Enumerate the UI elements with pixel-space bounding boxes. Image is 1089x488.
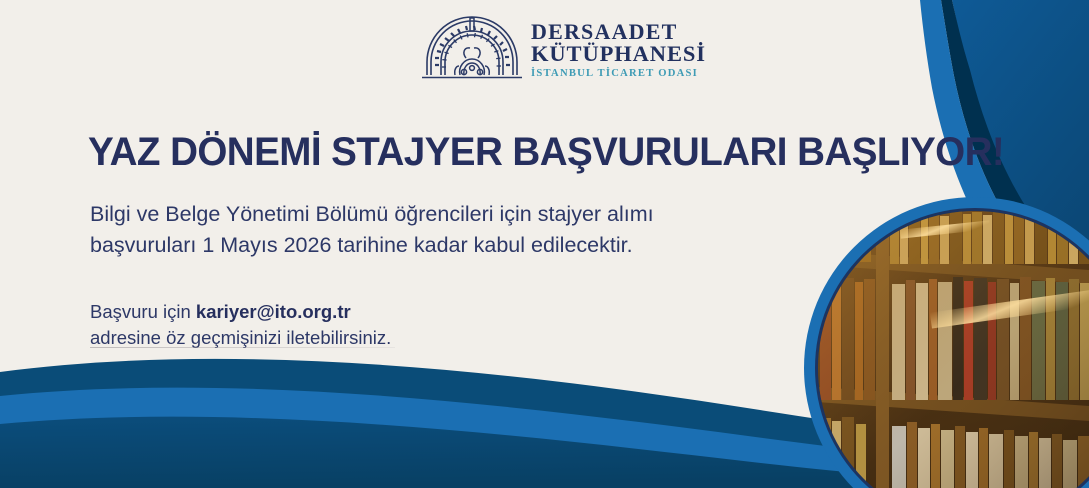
body-line-2: başvuruları 1 Mayıs 2026 tarihine kadar … — [90, 230, 730, 261]
contact-block: Başvuru için kariyer@ito.org.tr adresine… — [90, 299, 510, 352]
contact-prefix: Başvuru için — [90, 301, 196, 322]
body-line-1: Bilgi ve Belge Yönetimi Bölümü öğrencile… — [90, 199, 730, 230]
brand-logo: DERSAADET KÜTÜPHANESİ İSTANBUL TİCARET O… — [422, 12, 682, 84]
body-paragraph: Bilgi ve Belge Yönetimi Bölümü öğrencile… — [90, 199, 730, 260]
dersaadet-library-arch-emblem — [422, 15, 522, 81]
contact-email[interactable]: kariyer@ito.org.tr — [196, 301, 351, 322]
divider — [90, 347, 395, 348]
contact-line-1: Başvuru için kariyer@ito.org.tr — [90, 299, 510, 325]
logo-subtitle: İSTANBUL TİCARET ODASI — [531, 68, 706, 79]
logo-line-1: DERSAADET — [531, 21, 706, 43]
page-title: YAZ DÖNEMİ STAJYER BAŞVURULARI BAŞLIYOR! — [88, 131, 918, 173]
poster-canvas: DERSAADET KÜTÜPHANESİ İSTANBUL TİCARET O… — [0, 0, 1089, 488]
logo-line-2: KÜTÜPHANESİ — [531, 43, 706, 66]
brand-logo-text: DERSAADET KÜTÜPHANESİ İSTANBUL TİCARET O… — [531, 17, 706, 79]
